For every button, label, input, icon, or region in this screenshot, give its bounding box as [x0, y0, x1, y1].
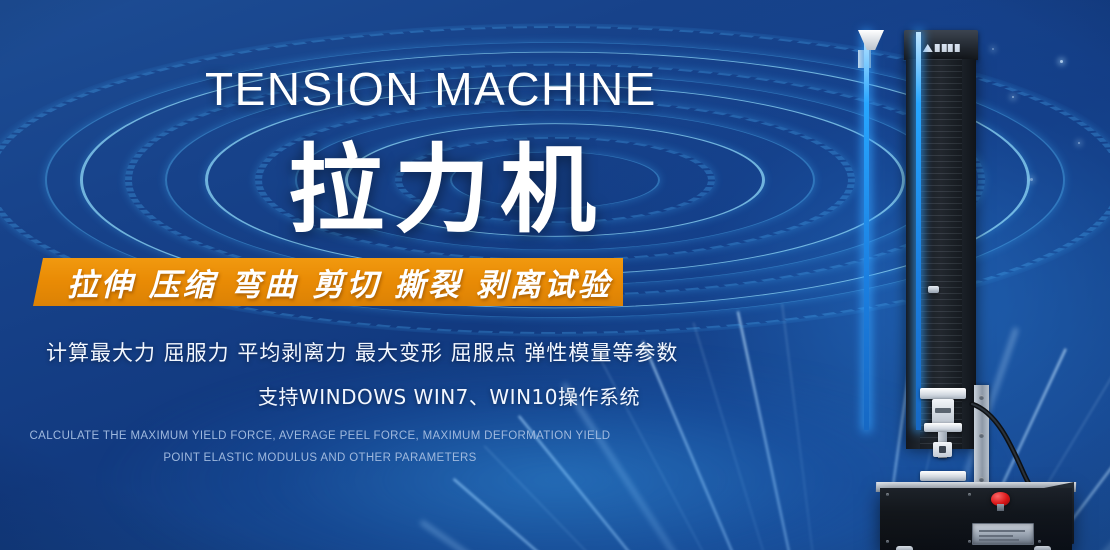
- brand-logo-icon: [923, 44, 960, 52]
- side-rail-plate: [974, 385, 989, 495]
- leveling-foot-left: [896, 546, 913, 550]
- upper-grip-body: [932, 399, 954, 425]
- capability-highlight-label: 拉伸 压缩 弯曲 剪切 撕裂 剥离试验: [67, 260, 612, 305]
- load-cell: [933, 442, 952, 457]
- lower-grip-crossbar: [920, 471, 966, 481]
- subtitle-chinese-secondary: 支持WINDOWS WIN7、WIN10操作系统: [0, 381, 640, 410]
- subtitle-english-line-1: CALCULATE THE MAXIMUM YIELD FORCE, AVERA…: [0, 430, 640, 442]
- subtitle-chinese-primary: 计算最大力 屈服力 平均剥离力 最大变形 屈服点 弹性模量等参数: [46, 337, 678, 367]
- lower-grip-wedge: [858, 30, 884, 50]
- control-panel-plate: [972, 523, 1034, 545]
- title-chinese: 拉力机: [288, 112, 606, 251]
- subtitle-english-line-2: POINT ELASTIC MODULUS AND OTHER PARAMETE…: [0, 452, 640, 464]
- column-knob-upper: [928, 286, 939, 293]
- emergency-stop-button[interactable]: [991, 492, 1010, 506]
- upper-grip-plate: [924, 423, 962, 432]
- leveling-foot-right: [1034, 546, 1051, 550]
- product-banner: TENSION MACHINE 拉力机 拉伸 压缩 弯曲 剪切 撕裂 剥离试验 …: [0, 0, 1110, 550]
- capability-highlight-bar: 拉伸 压缩 弯曲 剪切 撕裂 剥离试验: [33, 258, 623, 306]
- led-strip-left: [864, 32, 869, 430]
- upper-grip-crossbar: [920, 388, 966, 399]
- headline-block: TENSION MACHINE 拉力机 拉伸 压缩 弯曲 剪切 撕裂 剥离试验 …: [0, 0, 680, 550]
- led-strip-right: [916, 32, 921, 430]
- title-english: TENSION MACHINE: [205, 62, 657, 116]
- tension-testing-machine: [858, 30, 1088, 550]
